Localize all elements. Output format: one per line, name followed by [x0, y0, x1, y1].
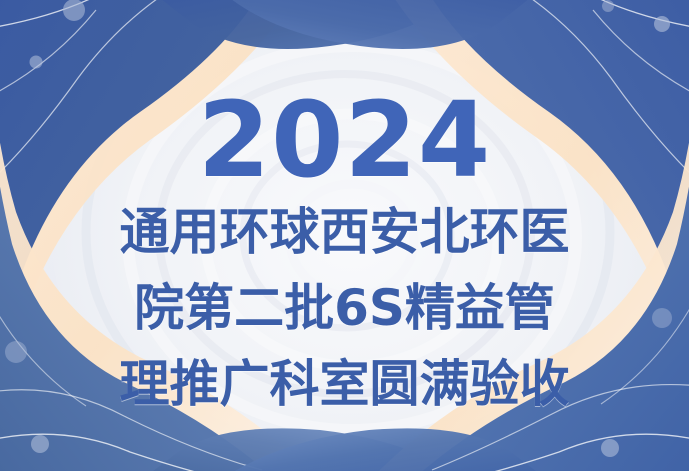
decor-dot-3 [654, 16, 670, 32]
decor-dot-5 [31, 435, 49, 453]
background-decoration [0, 0, 689, 471]
decor-dot-2 [30, 56, 43, 69]
poster-canvas: 2024 通用环球西安北环医 院第二批6S精益管 理推广科室圆满验收 [0, 0, 689, 471]
decor-dot-1 [63, 0, 85, 21]
decor-dot-6 [5, 341, 27, 363]
decor-dot-4 [602, 0, 614, 12]
decor-dot-8 [652, 308, 672, 328]
decor-dot-7 [601, 439, 619, 457]
